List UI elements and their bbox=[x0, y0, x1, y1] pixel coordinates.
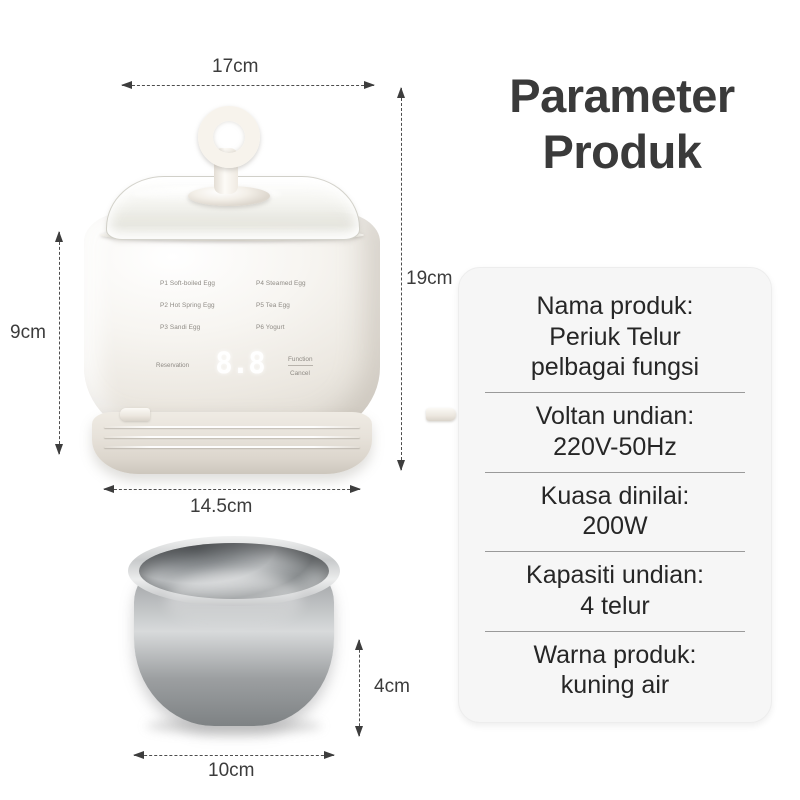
arrow-up-icon bbox=[55, 231, 63, 242]
spec-label: Kuasa dinilai: bbox=[541, 481, 690, 512]
dimension-line-base-width bbox=[104, 482, 360, 496]
arrow-right-icon bbox=[364, 81, 375, 89]
dimension-label-base-width: 14.5cm bbox=[190, 496, 252, 518]
cooker-handle-right bbox=[426, 408, 456, 421]
base-ridge bbox=[104, 436, 360, 438]
product-spec-page: P1 Soft-boiled Egg P2 Hot Spring Egg P3 … bbox=[0, 0, 800, 800]
spec-label: Warna produk: bbox=[533, 640, 696, 671]
program-label-p6: P6 Yogurt bbox=[256, 324, 285, 331]
dimension-label-body-height: 9cm bbox=[10, 322, 46, 344]
cancel-button-label: Cancel bbox=[290, 370, 310, 377]
steel-inner-bowl-image bbox=[128, 536, 340, 736]
program-label-p2: P2 Hot Spring Egg bbox=[160, 302, 215, 309]
bowl-highlight bbox=[166, 572, 302, 630]
spec-label: Kapasiti undian: bbox=[526, 560, 704, 591]
dimension-dashed-line bbox=[401, 88, 402, 470]
spec-value: 200W bbox=[582, 511, 647, 542]
specification-panel: Nama produk: Periuk Telur pelbagai fungs… bbox=[458, 267, 772, 723]
arrow-down-icon bbox=[55, 444, 63, 455]
arrow-down-icon bbox=[355, 726, 363, 737]
dimension-label-bowl-height: 4cm bbox=[374, 676, 410, 698]
page-title-line2: Produk bbox=[462, 124, 782, 180]
dimension-line-lid-width bbox=[122, 78, 374, 92]
program-label-p4: P4 Steamed Egg bbox=[256, 280, 306, 287]
arrow-up-icon bbox=[397, 87, 405, 98]
spec-row-voltage: Voltan undian: 220V-50Hz bbox=[459, 392, 771, 472]
dimension-label-lid-width: 17cm bbox=[212, 56, 258, 78]
arrow-down-icon bbox=[397, 460, 405, 471]
spec-value: 4 telur bbox=[580, 591, 649, 622]
program-label-p3: P3 Sandi Egg bbox=[160, 324, 200, 331]
timer-display: 8.8 bbox=[214, 346, 266, 380]
spec-value-cont: pelbagai fungsi bbox=[531, 352, 699, 383]
spec-row-power: Kuasa dinilai: 200W bbox=[459, 472, 771, 552]
spec-row-capacity: Kapasiti undian: 4 telur bbox=[459, 551, 771, 631]
dimension-dashed-line bbox=[59, 232, 60, 454]
base-ridge bbox=[104, 446, 360, 448]
spec-label: Nama produk: bbox=[536, 291, 693, 322]
product-photo-area: P1 Soft-boiled Egg P2 Hot Spring Egg P3 … bbox=[0, 0, 460, 800]
arrow-left-icon bbox=[121, 81, 132, 89]
reservation-button-label: Reservation bbox=[156, 362, 189, 369]
arrow-left-icon bbox=[133, 751, 144, 759]
arrow-left-icon bbox=[103, 485, 114, 493]
dimension-line-bowl-height bbox=[352, 640, 366, 736]
egg-cooker-image: P1 Soft-boiled Egg P2 Hot Spring Egg P3 … bbox=[84, 212, 380, 474]
page-title-line1: Parameter bbox=[462, 68, 782, 124]
spec-label: Voltan undian: bbox=[536, 401, 694, 432]
cooker-base bbox=[92, 412, 372, 474]
spec-row-color: Warna produk: kuning air bbox=[459, 631, 771, 711]
dimension-label-total-height: 19cm bbox=[406, 268, 452, 290]
dimension-line-body-height bbox=[52, 232, 66, 454]
arrow-right-icon bbox=[350, 485, 361, 493]
dimension-dashed-line bbox=[104, 489, 360, 490]
spec-value: 220V-50Hz bbox=[553, 432, 677, 463]
page-title: Parameter Produk bbox=[462, 68, 782, 181]
lid-knob-ring bbox=[198, 106, 260, 168]
program-label-p1: P1 Soft-boiled Egg bbox=[160, 280, 215, 287]
program-label-p5: P5 Tea Egg bbox=[256, 302, 290, 309]
dimension-dashed-line bbox=[134, 755, 334, 756]
spec-value: kuning air bbox=[561, 670, 669, 701]
dimension-label-bowl-width: 10cm bbox=[208, 760, 254, 782]
base-ridge bbox=[104, 426, 360, 428]
dimension-dashed-line bbox=[359, 640, 360, 736]
spec-row-product-name: Nama produk: Periuk Telur pelbagai fungs… bbox=[459, 282, 771, 392]
arrow-up-icon bbox=[355, 639, 363, 650]
spec-value: Periuk Telur bbox=[549, 322, 681, 353]
function-button-label: Function bbox=[288, 356, 313, 366]
cooker-control-panel: P1 Soft-boiled Egg P2 Hot Spring Egg P3 … bbox=[152, 278, 342, 398]
arrow-right-icon bbox=[324, 751, 335, 759]
cooker-handle-left bbox=[120, 408, 150, 421]
dimension-dashed-line bbox=[122, 85, 374, 86]
